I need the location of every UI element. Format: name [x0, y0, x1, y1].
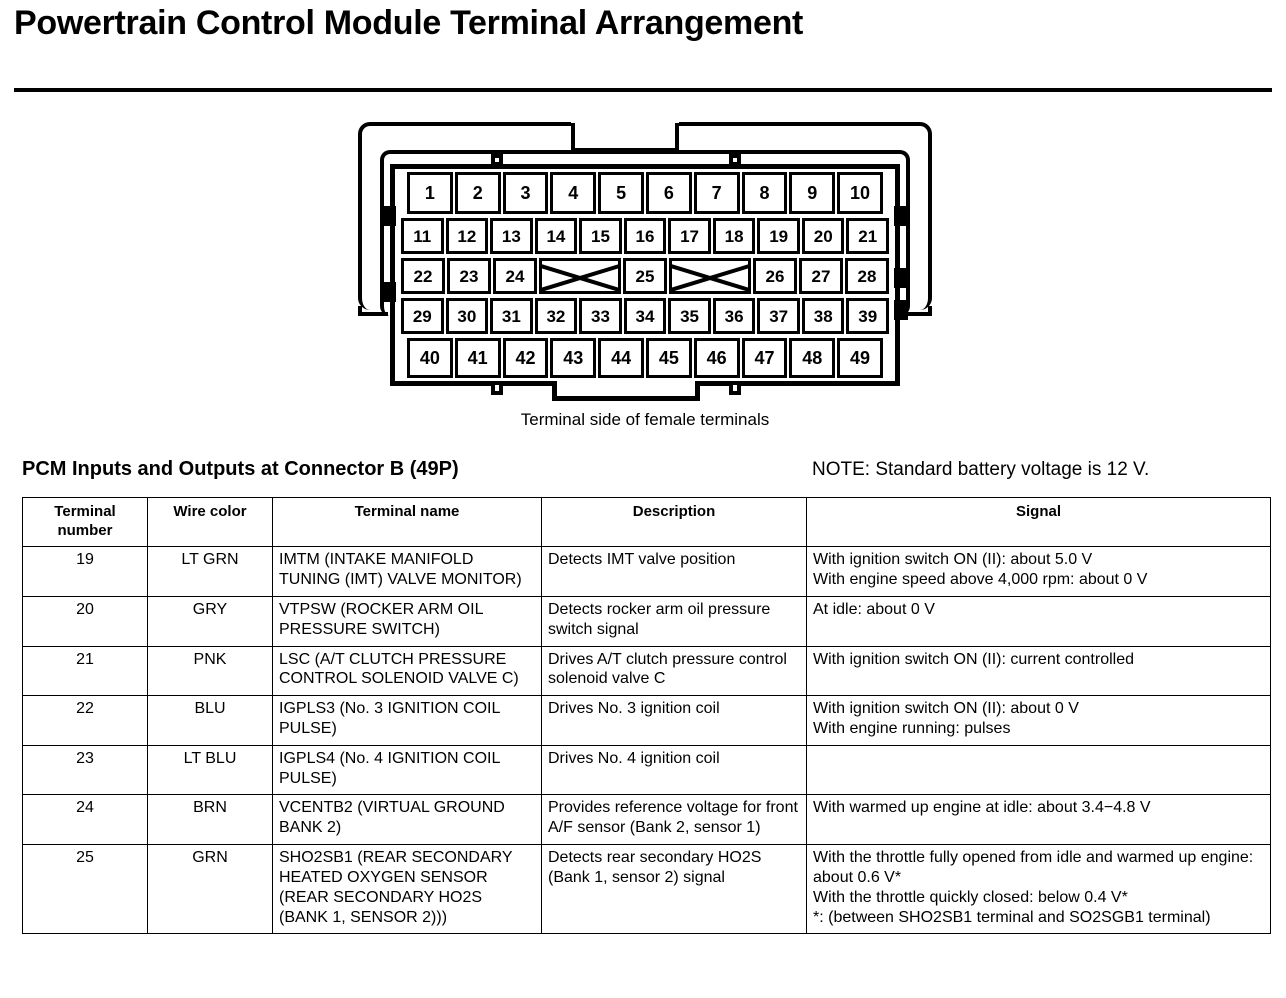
pin-row-5: 40414243444546474849 [396, 336, 894, 380]
pin-45: 45 [646, 338, 692, 378]
connector-side-tab-right-upper [894, 206, 908, 226]
pin-6: 6 [646, 172, 692, 214]
pin-47: 47 [742, 338, 788, 378]
connector-top-keyway-cap [571, 118, 679, 123]
pin-31: 31 [490, 298, 533, 334]
pin-33: 33 [579, 298, 622, 334]
table-row: 21PNKLSC (A/T CLUTCH PRESSURE CONTROL SO… [23, 646, 1271, 696]
connector-bottom-keyway [552, 381, 700, 401]
pin-8: 8 [742, 172, 788, 214]
pin-39: 39 [846, 298, 889, 334]
pin-34: 34 [624, 298, 667, 334]
pin-27: 27 [799, 258, 843, 294]
cell-signal: With ignition switch ON (II): about 5.0 … [807, 547, 1271, 597]
cell-terminal-name: IMTM (INTAKE MANIFOLD TUNING (IMT) VALVE… [273, 547, 542, 597]
pin-12: 12 [446, 218, 489, 254]
cell-description: Drives A/T clutch pressure control solen… [542, 646, 807, 696]
cell-terminal-number: 19 [23, 547, 148, 597]
cell-wire-color: PNK [148, 646, 273, 696]
cell-wire-color: BRN [148, 795, 273, 845]
cell-description: Detects IMT valve position [542, 547, 807, 597]
header-terminal-number-line1: Terminal [54, 503, 115, 520]
cell-terminal-name: IGPLS3 (No. 3 IGNITION COIL PULSE) [273, 696, 542, 746]
table-row: 19LT GRNIMTM (INTAKE MANIFOLD TUNING (IM… [23, 547, 1271, 597]
pin-25: 25 [623, 258, 667, 294]
connector-side-tab-right-lower [894, 300, 908, 320]
pin-1: 1 [407, 172, 453, 214]
cell-signal: With the throttle fully opened from idle… [807, 845, 1271, 934]
header-terminal-number-line2: number [57, 522, 112, 539]
table-row: 23LT BLUIGPLS4 (No. 4 IGNITION COIL PULS… [23, 745, 1271, 795]
pin-9: 9 [789, 172, 835, 214]
title-divider [14, 88, 1272, 92]
pin-row-4: 2930313233343536373839 [396, 296, 894, 336]
table-row: 20GRYVTPSW (ROCKER ARM OIL PRESSURE SWIT… [23, 596, 1271, 646]
pin-38: 38 [802, 298, 845, 334]
table-row: 22BLUIGPLS3 (No. 3 IGNITION COIL PULSE)D… [23, 696, 1271, 746]
page-title: Powertrain Control Module Terminal Arran… [14, 4, 803, 43]
pin-24: 24 [493, 258, 537, 294]
cell-wire-color: GRY [148, 596, 273, 646]
cell-terminal-number: 20 [23, 596, 148, 646]
connector-side-tab-left-lower [382, 282, 396, 302]
pin-43: 43 [550, 338, 596, 378]
cell-signal [807, 745, 1271, 795]
connector-bottom-tab-right [729, 381, 741, 395]
cell-signal: At idle: about 0 V [807, 596, 1271, 646]
pin-17: 17 [668, 218, 711, 254]
pin-5: 5 [598, 172, 644, 214]
pin-20: 20 [802, 218, 845, 254]
pin-21: 21 [846, 218, 889, 254]
cell-terminal-name: VCENTB2 (VIRTUAL GROUND BANK 2) [273, 795, 542, 845]
pin-40: 40 [407, 338, 453, 378]
table-row: 25GRNSHO2SB1 (REAR SECONDARY HEATED OXYG… [23, 845, 1271, 934]
connector-bottom-tab-left [491, 381, 503, 395]
cell-terminal-number: 22 [23, 696, 148, 746]
cell-signal: With warmed up engine at idle: about 3.4… [807, 795, 1271, 845]
cell-terminal-number: 25 [23, 845, 148, 934]
terminal-pin-grid: 1234567891011121314151617181920212223242… [396, 170, 894, 380]
pin-blank-crossed [669, 258, 751, 294]
pin-2: 2 [455, 172, 501, 214]
header-signal: Signal [807, 498, 1271, 547]
cell-description: Drives No. 4 ignition coil [542, 745, 807, 795]
cell-description: Drives No. 3 ignition coil [542, 696, 807, 746]
pin-29: 29 [401, 298, 444, 334]
connector-diagram: 1234567891011121314151617181920212223242… [352, 118, 938, 388]
pin-11: 11 [401, 218, 444, 254]
connector-side-tab-left-upper [382, 206, 396, 226]
pin-35: 35 [668, 298, 711, 334]
pin-48: 48 [789, 338, 835, 378]
pin-row-2: 1112131415161718192021 [396, 216, 894, 256]
pin-7: 7 [694, 172, 740, 214]
pin-26: 26 [753, 258, 797, 294]
pin-49: 49 [837, 338, 883, 378]
pin-37: 37 [757, 298, 800, 334]
pin-3: 3 [503, 172, 549, 214]
cell-terminal-name: LSC (A/T CLUTCH PRESSURE CONTROL SOLENOI… [273, 646, 542, 696]
cell-wire-color: GRN [148, 845, 273, 934]
pin-46: 46 [694, 338, 740, 378]
cell-terminal-name: SHO2SB1 (REAR SECONDARY HEATED OXYGEN SE… [273, 845, 542, 934]
connector-top-tab-left [491, 154, 503, 166]
pin-row-3: 22232425262728 [396, 256, 894, 296]
pcm-io-table: Terminal number Wire color Terminal name… [22, 497, 1271, 934]
pin-13: 13 [490, 218, 533, 254]
section-heading: PCM Inputs and Outputs at Connector B (4… [22, 458, 459, 481]
diagram-caption: Terminal side of female terminals [352, 410, 938, 430]
pin-19: 19 [757, 218, 800, 254]
pin-22: 22 [401, 258, 445, 294]
pin-18: 18 [713, 218, 756, 254]
cell-signal: With ignition switch ON (II): about 0 VW… [807, 696, 1271, 746]
pin-28: 28 [845, 258, 889, 294]
pin-32: 32 [535, 298, 578, 334]
pin-row-1: 12345678910 [396, 170, 894, 216]
cell-description: Detects rear secondary HO2S (Bank 1, sen… [542, 845, 807, 934]
pin-blank-crossed [539, 258, 621, 294]
pin-16: 16 [624, 218, 667, 254]
cell-terminal-name: IGPLS4 (No. 4 IGNITION COIL PULSE) [273, 745, 542, 795]
header-terminal-number: Terminal number [23, 498, 148, 547]
cell-wire-color: LT GRN [148, 547, 273, 597]
cell-terminal-number: 21 [23, 646, 148, 696]
connector-top-keyway [571, 122, 679, 152]
pin-10: 10 [837, 172, 883, 214]
cell-terminal-number: 23 [23, 745, 148, 795]
cell-signal: With ignition switch ON (II): current co… [807, 646, 1271, 696]
pin-41: 41 [455, 338, 501, 378]
table-header-row: Terminal number Wire color Terminal name… [23, 498, 1271, 547]
cell-description: Detects rocker arm oil pressure switch s… [542, 596, 807, 646]
pin-4: 4 [550, 172, 596, 214]
pin-14: 14 [535, 218, 578, 254]
header-description: Description [542, 498, 807, 547]
pin-15: 15 [579, 218, 622, 254]
battery-voltage-note: NOTE: Standard battery voltage is 12 V. [812, 459, 1149, 481]
header-terminal-name: Terminal name [273, 498, 542, 547]
connector-side-tab-right-middle [894, 268, 908, 288]
connector-top-tab-right [729, 154, 741, 166]
pin-44: 44 [598, 338, 644, 378]
cell-description: Provides reference voltage for front A/F… [542, 795, 807, 845]
pin-30: 30 [446, 298, 489, 334]
header-wire-color: Wire color [148, 498, 273, 547]
table-row: 24BRNVCENTB2 (VIRTUAL GROUND BANK 2)Prov… [23, 795, 1271, 845]
cell-wire-color: BLU [148, 696, 273, 746]
pin-42: 42 [503, 338, 549, 378]
cell-terminal-number: 24 [23, 795, 148, 845]
cell-wire-color: LT BLU [148, 745, 273, 795]
pin-36: 36 [713, 298, 756, 334]
pin-23: 23 [447, 258, 491, 294]
cell-terminal-name: VTPSW (ROCKER ARM OIL PRESSURE SWITCH) [273, 596, 542, 646]
